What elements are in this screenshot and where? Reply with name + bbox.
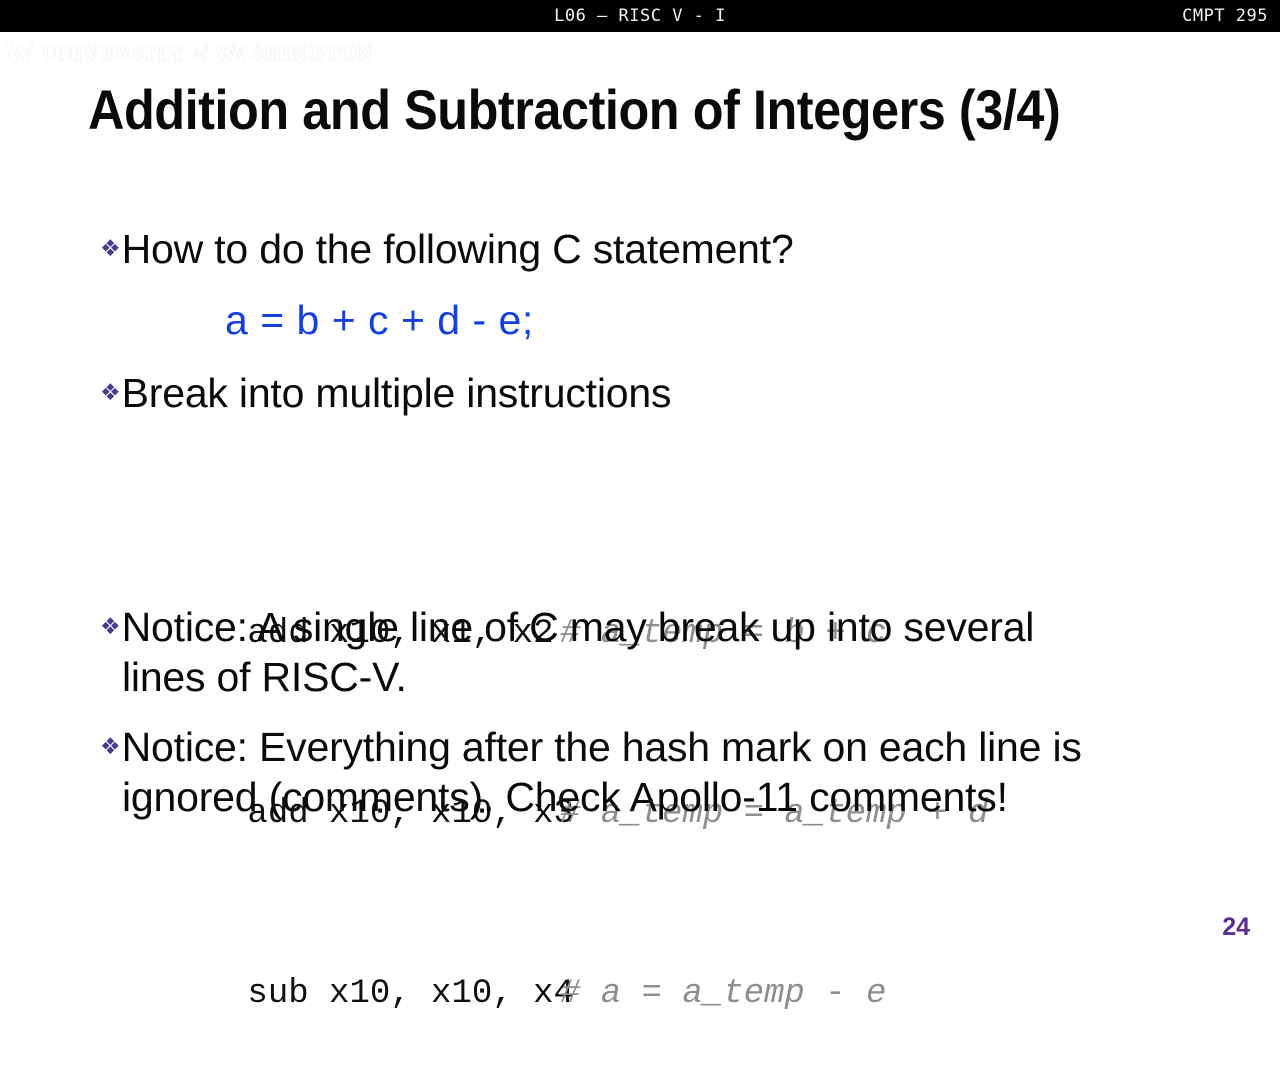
- bullet-label-notice-hash-mark-cont: ignored (comments). Check Apollo-11 comm…: [122, 772, 1260, 822]
- slide-page-number: 24: [1222, 913, 1250, 942]
- c-statement-code: a = b + c + d - e;: [225, 297, 534, 344]
- diamond-bullet-icon: ❖: [100, 616, 121, 639]
- code-comment: # a = a_temp - e: [560, 964, 886, 1024]
- diamond-bullet-icon: ❖: [100, 382, 121, 405]
- bullet-label-notice-single-line-cont: lines of RISC-V.: [122, 652, 1250, 702]
- bullet-item-how-to: ❖How to do the following C statement?: [100, 224, 1240, 274]
- bullet-label-break-into: Break into multiple instructions: [122, 370, 672, 416]
- diamond-bullet-icon: ❖: [100, 238, 121, 261]
- bullet-label-how-to: How to do the following C statement?: [122, 226, 794, 272]
- slide-body: ❖How to do the following C statement? a …: [0, 0, 1280, 960]
- code-line: sub x10, x10, x4# a = a_temp - e: [125, 904, 574, 964]
- code-instruction: sub x10, x10, x4: [247, 964, 573, 1024]
- bullet-label-notice-hash-mark: Notice: Everything after the hash mark o…: [122, 724, 1082, 770]
- bullet-item-notice-single-line: ❖Notice: A single line of C may break up…: [100, 602, 1250, 702]
- bullet-item-notice-hash-mark: ❖Notice: Everything after the hash mark …: [100, 722, 1260, 822]
- bullet-label-notice-single-line: Notice: A single line of C may break up …: [122, 604, 1035, 650]
- code-line: add x10, x1, x2# a_temp = b + c: [125, 544, 574, 604]
- diamond-bullet-icon: ❖: [100, 736, 121, 759]
- bullet-item-break-into: ❖Break into multiple instructions: [100, 368, 1240, 418]
